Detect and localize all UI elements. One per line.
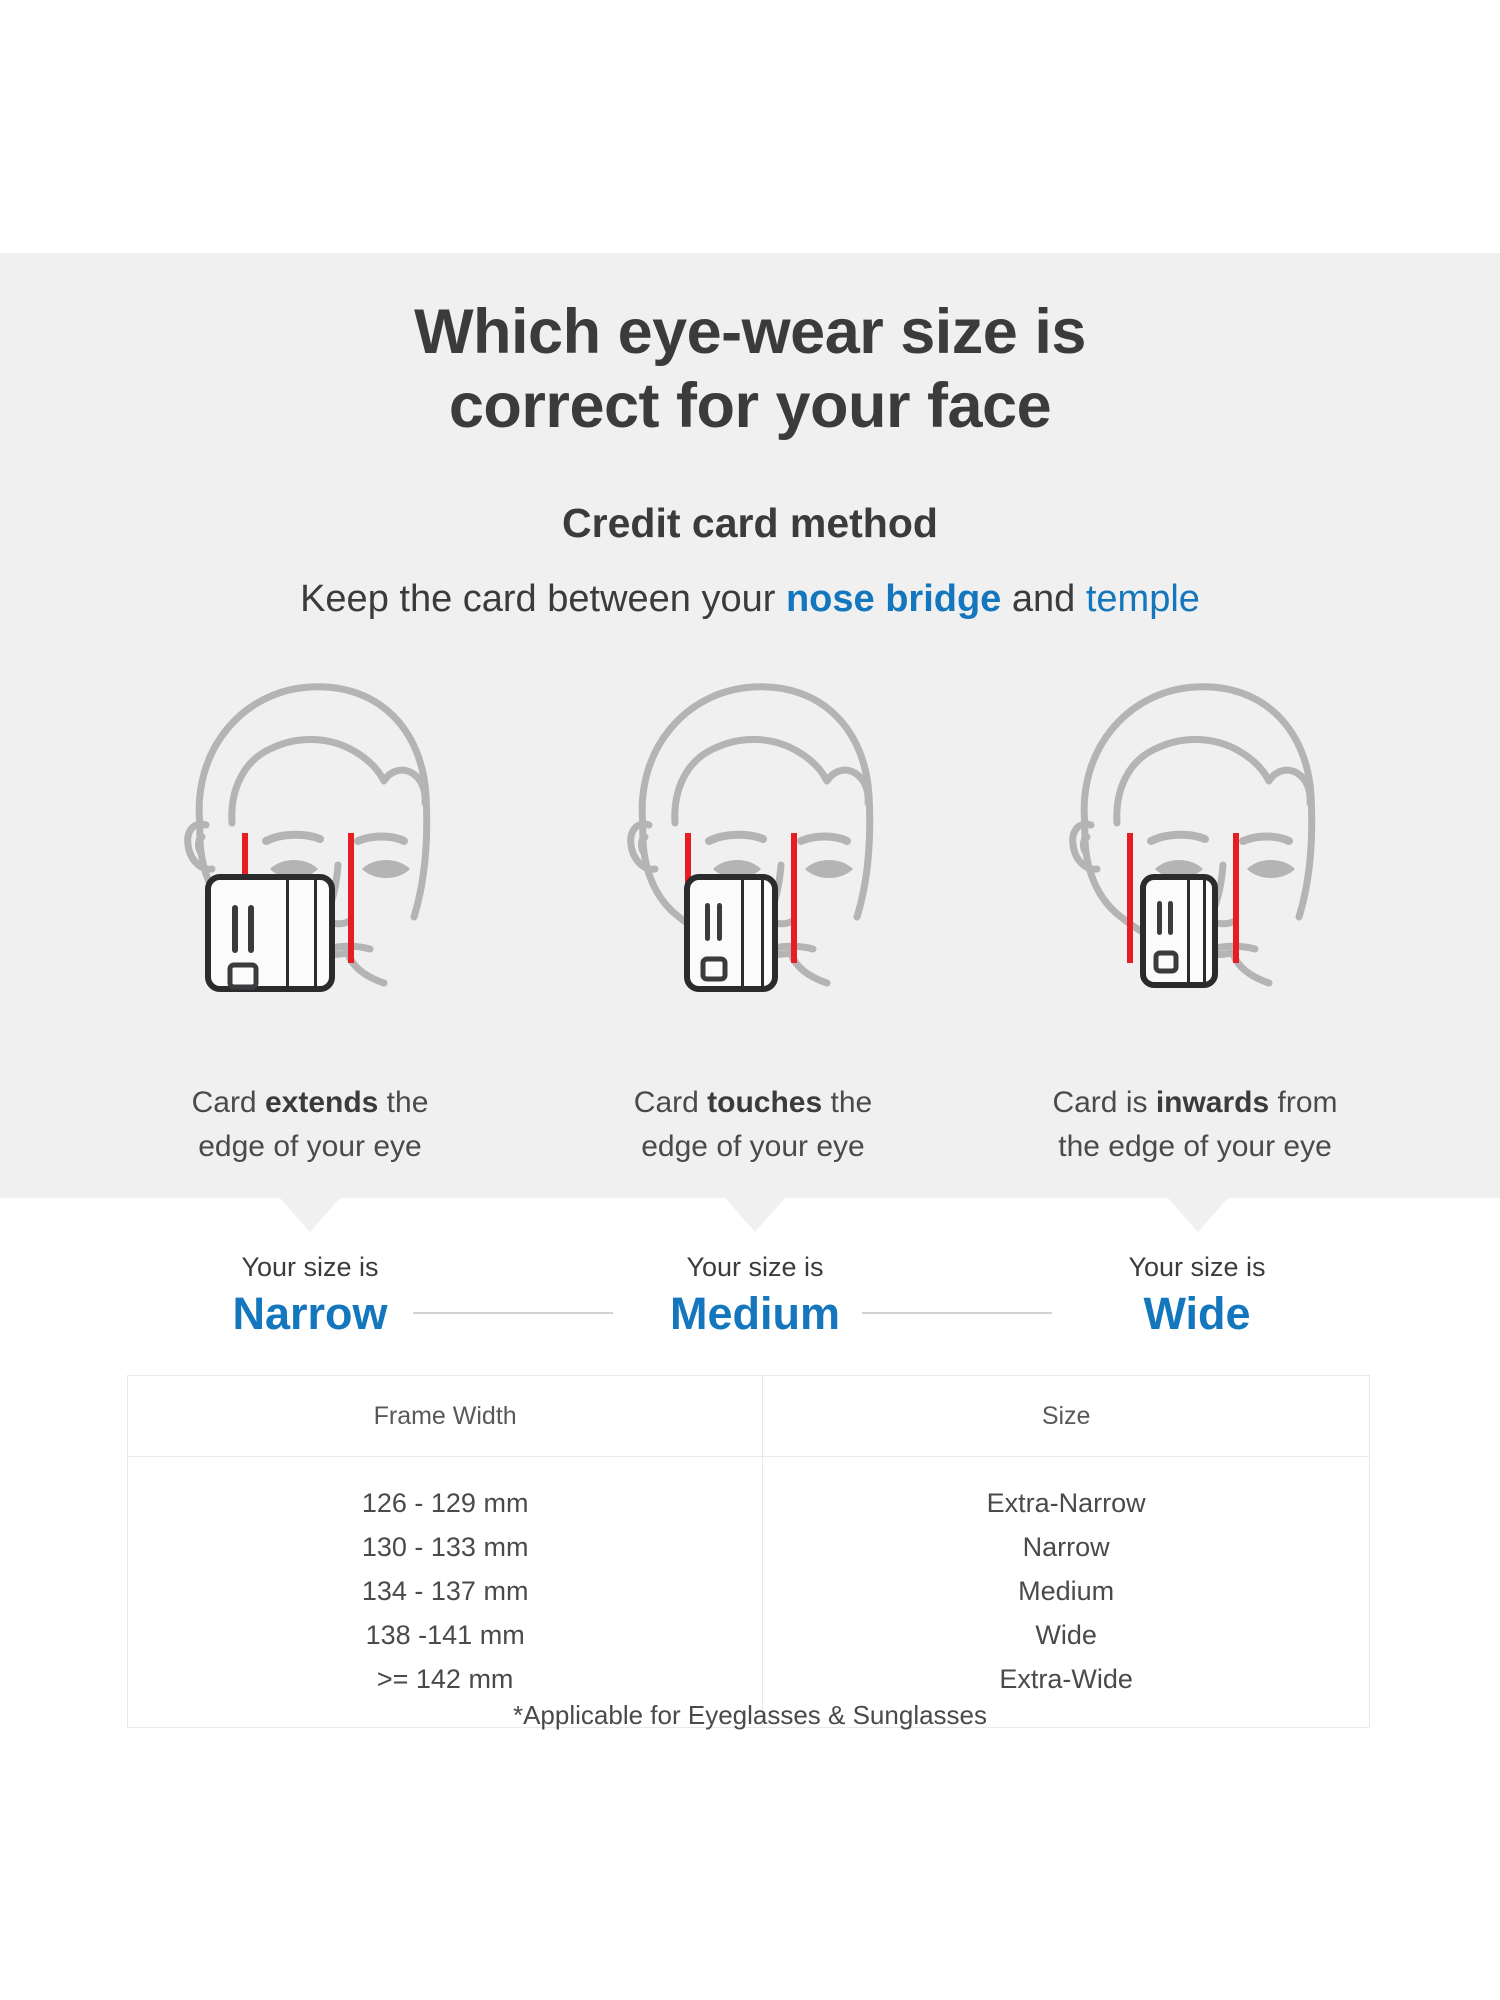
credit-card-wide: [1143, 877, 1215, 985]
face-column-medium: [533, 655, 973, 1055]
size-result-medium: Your size is Medium: [605, 1250, 905, 1342]
face-illustrations: [0, 655, 1500, 1055]
frame-width-list: 126 - 129 mm 130 - 133 mm 134 - 137 mm 1…: [128, 1457, 762, 1727]
instruction-highlight-nose-bridge: nose bridge: [786, 578, 1001, 620]
face-diagram-medium: [613, 655, 893, 995]
guide-line-left-wide: [1127, 833, 1133, 963]
size-result-wide: Your size is Wide: [1047, 1250, 1347, 1342]
page-title: Which eye-wear size is correct for your …: [0, 295, 1500, 443]
list-item: >= 142 mm: [128, 1657, 762, 1701]
page-title-line1: Which eye-wear size is: [0, 295, 1500, 369]
size-result-wide-name: Wide: [1047, 1286, 1347, 1342]
panel-notch-narrow: [280, 1198, 340, 1232]
guide-line-right-wide: [1233, 833, 1239, 963]
caption-wide: Card is inwards from the edge of your ey…: [975, 1081, 1415, 1169]
list-item: Wide: [763, 1613, 1369, 1657]
caption-wide-bold: inwards: [1156, 1086, 1269, 1119]
caption-wide-post: from: [1269, 1086, 1337, 1119]
list-item: 138 -141 mm: [128, 1613, 762, 1657]
table-row: 126 - 129 mm 130 - 133 mm 134 - 137 mm 1…: [128, 1457, 1370, 1728]
list-item: 134 - 137 mm: [128, 1569, 762, 1613]
list-item: 130 - 133 mm: [128, 1525, 762, 1569]
frame-size-table-head: Frame Width Size: [128, 1376, 1370, 1457]
table-header-frame-width: Frame Width: [128, 1376, 763, 1457]
panel-notch-wide: [1168, 1198, 1228, 1232]
instruction-highlight-temple: temple: [1086, 578, 1200, 620]
size-result-narrow-pre: Your size is: [160, 1250, 460, 1284]
face-column-narrow: [90, 655, 530, 1055]
size-result-narrow-name: Narrow: [160, 1286, 460, 1342]
caption-wide-line1: Card is inwards from: [975, 1081, 1415, 1125]
caption-medium: Card touches the edge of your eye: [533, 1081, 973, 1169]
size-connector-2: [862, 1312, 1052, 1314]
credit-card-medium: [687, 877, 775, 989]
panel-notch-medium: [725, 1198, 785, 1232]
caption-narrow-line2: edge of your eye: [90, 1125, 530, 1169]
list-item: Medium: [763, 1569, 1369, 1613]
face-diagram-wide: [1055, 655, 1335, 995]
table-cell-sizes: Extra-Narrow Narrow Medium Wide Extra-Wi…: [763, 1457, 1370, 1728]
caption-medium-line1: Card touches the: [533, 1081, 973, 1125]
caption-narrow-line1: Card extends the: [90, 1081, 530, 1125]
frame-size-table-body: 126 - 129 mm 130 - 133 mm 134 - 137 mm 1…: [128, 1457, 1370, 1728]
table-header-size: Size: [763, 1376, 1370, 1457]
size-result-medium-name: Medium: [605, 1286, 905, 1342]
face-diagram-narrow: [170, 655, 450, 995]
caption-wide-line2: the edge of your eye: [975, 1125, 1415, 1169]
page-title-line2: correct for your face: [0, 369, 1500, 443]
size-connector-1: [413, 1312, 613, 1314]
size-result-row: Your size is Narrow Your size is Medium …: [0, 1250, 1500, 1360]
page-subtitle: Credit card method: [0, 500, 1500, 547]
table-cell-frame-widths: 126 - 129 mm 130 - 133 mm 134 - 137 mm 1…: [128, 1457, 763, 1728]
list-item: 126 - 129 mm: [128, 1481, 762, 1525]
caption-narrow-pre: Card: [192, 1086, 265, 1119]
instruction-part1: Keep the card between your: [300, 578, 786, 620]
credit-card-narrow: [208, 877, 332, 989]
footnote: *Applicable for Eyeglasses & Sunglasses: [0, 1700, 1500, 1731]
caption-medium-bold: touches: [707, 1086, 822, 1119]
instruction-line: Keep the card between your nose bridge a…: [0, 578, 1500, 621]
content-area: Which eye-wear size is correct for your …: [0, 0, 1500, 2000]
guide-line-right-medium: [791, 833, 797, 963]
size-result-medium-pre: Your size is: [605, 1250, 905, 1284]
caption-medium-post: the: [822, 1086, 872, 1119]
size-result-wide-pre: Your size is: [1047, 1250, 1347, 1284]
caption-narrow-post: the: [378, 1086, 428, 1119]
frame-size-table: Frame Width Size 126 - 129 mm 130 - 133 …: [127, 1375, 1370, 1728]
list-item: Extra-Wide: [763, 1657, 1369, 1701]
caption-narrow-bold: extends: [265, 1086, 378, 1119]
infographic-page: Which eye-wear size is correct for your …: [0, 0, 1500, 2000]
caption-medium-pre: Card: [634, 1086, 707, 1119]
caption-narrow: Card extends the edge of your eye: [90, 1081, 530, 1169]
table-header-row: Frame Width Size: [128, 1376, 1370, 1457]
caption-wide-pre: Card is: [1052, 1086, 1155, 1119]
guide-line-right-narrow: [348, 833, 354, 963]
size-name-list: Extra-Narrow Narrow Medium Wide Extra-Wi…: [763, 1457, 1369, 1727]
instruction-part2: and: [1001, 578, 1086, 620]
size-result-narrow: Your size is Narrow: [160, 1250, 460, 1342]
face-column-wide: [975, 655, 1415, 1055]
list-item: Extra-Narrow: [763, 1481, 1369, 1525]
list-item: Narrow: [763, 1525, 1369, 1569]
caption-medium-line2: edge of your eye: [533, 1125, 973, 1169]
